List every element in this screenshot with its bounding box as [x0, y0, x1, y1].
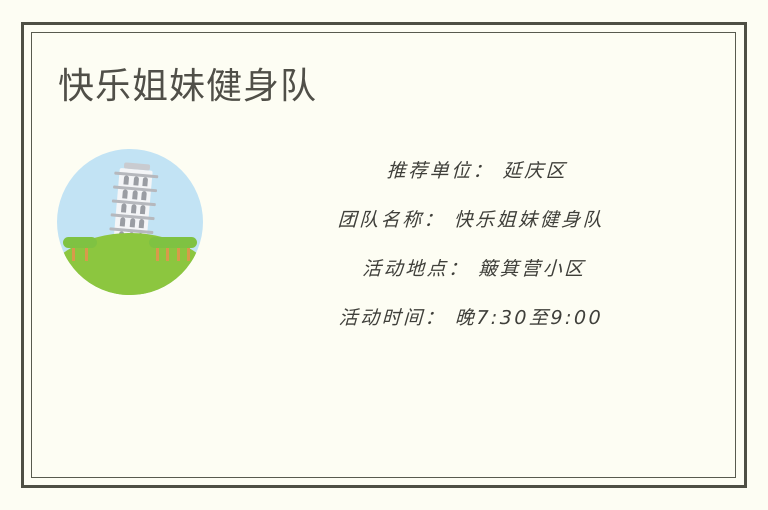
page-title: 快乐姐妹健身队 — [58, 64, 317, 108]
team-badge — [57, 149, 203, 295]
detail-line-recommending-unit: 推荐单位： 延庆区 — [211, 156, 732, 183]
card-body: 推荐单位： 延庆区 团队名称： 快乐姐妹健身队 活动地点： 簸箕营小区 活动时间… — [31, 142, 736, 372]
leaning-tower-of-pisa-icon — [57, 149, 203, 295]
info-card: 快乐姐妹健身队 — [0, 0, 768, 510]
tree-icon — [149, 237, 197, 261]
detail-line-team-name: 团队名称： 快乐姐妹健身队 — [211, 205, 732, 232]
badge-ground-fill — [57, 255, 203, 295]
tree-icon — [63, 237, 97, 261]
card-content: 快乐姐妹健身队 — [31, 32, 736, 478]
detail-line-location: 活动地点： 簸箕营小区 — [211, 254, 732, 281]
team-details: 推荐单位： 延庆区 团队名称： 快乐姐妹健身队 活动地点： 簸箕营小区 活动时间… — [211, 156, 731, 330]
detail-line-time: 活动时间： 晚7:30至9:00 — [211, 303, 732, 330]
